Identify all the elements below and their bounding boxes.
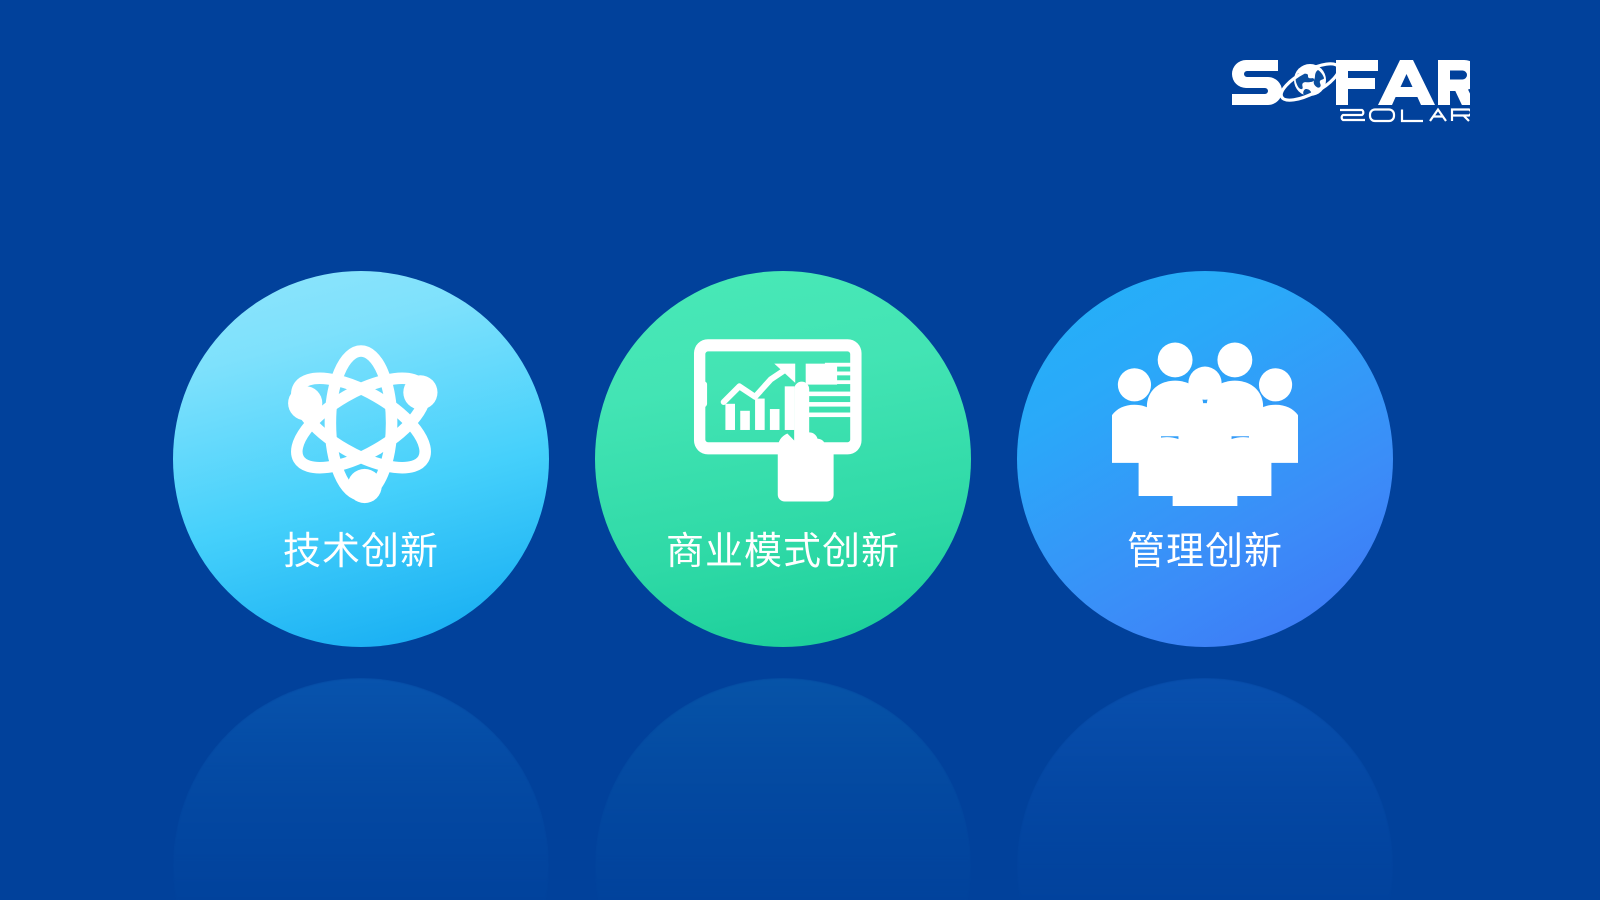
sofar-solar-logo (1230, 44, 1470, 124)
circle-backdrop-1: 技术创新 (173, 271, 549, 647)
logo-subtext-solar (1340, 110, 1470, 122)
atom-icon (261, 323, 461, 523)
reflection-card-3 (1017, 678, 1393, 900)
tablet-chart-touch-icon-art (687, 332, 879, 514)
feature-card-management-innovation[interactable]: 管理创新 (1017, 271, 1393, 647)
logo-artwork (1230, 44, 1470, 124)
globe-orbit-icon (1276, 57, 1343, 107)
feature-label-3: 管理创新 (1127, 533, 1283, 571)
atom-icon-art (271, 333, 451, 513)
feature-card-technology-innovation[interactable]: 技术创新 (173, 271, 549, 647)
people-group-icon-art (1112, 340, 1298, 506)
tablet-chart-touch-icon (683, 323, 883, 523)
circle-backdrop-3: 管理创新 (1017, 271, 1393, 647)
reflection-card-1 (173, 678, 549, 900)
feature-card-business-model-innovation[interactable]: 商业模式创新 (595, 271, 971, 647)
logo-letter-s (1232, 60, 1282, 105)
feature-label-2: 商业模式创新 (666, 533, 900, 571)
feature-circles-row: 技术创新 (0, 271, 1600, 651)
circle-backdrop-2: 商业模式创新 (595, 271, 971, 647)
slide-canvas: 技术创新 (0, 0, 1600, 900)
feature-label-1: 技术创新 (283, 533, 439, 571)
logo-letters-far (1336, 60, 1470, 105)
people-group-icon (1105, 323, 1305, 523)
reflection-card-2 (595, 678, 971, 900)
